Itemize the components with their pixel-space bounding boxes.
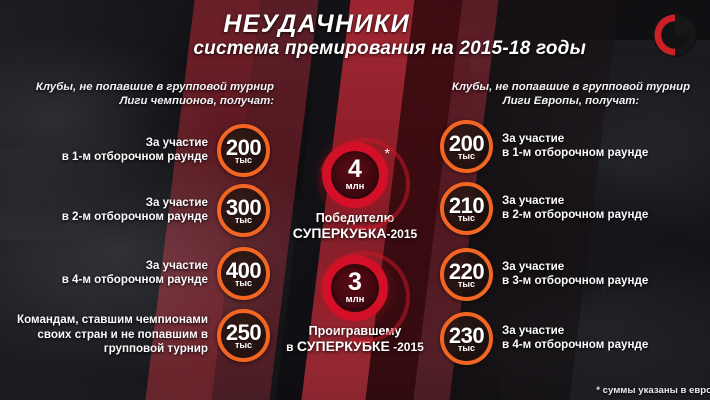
- list-item: Командам, ставшим чемпионами своих стран…: [0, 307, 270, 363]
- prize-unit: тыс: [235, 341, 252, 350]
- prize-label: За участие в 1-м отборочном раунде: [62, 136, 217, 165]
- prize-amount-badge: 220 тыс: [440, 248, 493, 301]
- prize-unit: тыс: [458, 214, 475, 223]
- list-item: 220 тыс За участие в 3-м отборочном раун…: [440, 246, 710, 302]
- page-title: НЕУДАЧНИКИ: [0, 10, 620, 39]
- prize-amount-badge: 210 тыс: [440, 182, 493, 235]
- prize-label: За участие в 4-м отборочном раунде: [493, 324, 648, 353]
- supercup-amount: 4: [348, 158, 362, 180]
- prize-label: За участие в 2-м отборочном раунде: [62, 196, 217, 225]
- prize-unit: тыс: [235, 156, 252, 165]
- prize-amount-badge: 250 тыс: [217, 309, 270, 362]
- supercup-prize-ring: 4 * млн: [322, 142, 388, 208]
- supercup-caption-year: -2015: [390, 340, 424, 354]
- prize-label: За участие в 4-м отборочном раунде: [62, 259, 217, 288]
- list-item: 210 тыс За участие в 2-м отборочном раун…: [440, 180, 710, 236]
- prize-amount-badge: 200 тыс: [440, 120, 493, 173]
- prize-label: За участие в 2-м отборочном раунде: [493, 194, 648, 223]
- supercup-runnerup-block: 3 млн Проигравшему в СУПЕРКУБКЕ -2015: [280, 255, 430, 355]
- prize-label: За участие в 3-м отборочном раунде: [493, 260, 648, 289]
- poster-header: НЕУДАЧНИКИ система премирования на 2015-…: [0, 4, 710, 66]
- footnote-asterisk: *: [385, 146, 390, 160]
- prize-label: За участие в 1-м отборочном раунде: [493, 132, 648, 161]
- supercup-caption-prefix: в: [286, 340, 297, 354]
- champions-emblem-logo: [651, 11, 699, 59]
- supercup-amount: 3: [348, 271, 362, 293]
- list-item: 230 тыс За участие в 4-м отборочном раун…: [440, 310, 710, 366]
- list-item: 200 тыс За участие в 1-м отборочном раун…: [440, 118, 710, 174]
- page-subtitle: система премирования на 2015-18 годы: [0, 38, 648, 60]
- prize-amount-badge: 200 тыс: [217, 124, 270, 177]
- infographic-poster: НЕУДАЧНИКИ система премирования на 2015-…: [0, 0, 710, 400]
- prize-unit: тыс: [458, 280, 475, 289]
- left-column-heading: Клубы, не попавшие в групповой турнир Ли…: [4, 80, 274, 108]
- prize-unit: тыс: [458, 152, 475, 161]
- prize-unit: тыс: [458, 344, 475, 353]
- prize-unit: тыс: [235, 216, 252, 225]
- list-item: За участие в 4-м отборочном раунде 400 т…: [0, 245, 270, 301]
- list-item: За участие в 1-м отборочном раунде 200 т…: [0, 122, 270, 178]
- prize-amount-badge: 230 тыс: [440, 312, 493, 365]
- list-item: За участие в 2-м отборочном раунде 300 т…: [0, 182, 270, 238]
- footnote: * суммы указаны в евро: [596, 385, 710, 396]
- supercup-winner-block: 4 * млн Победителю СУПЕРКУБКА-2015: [280, 142, 430, 242]
- prize-unit: тыс: [235, 279, 252, 288]
- supercup-caption-year: -2015: [387, 227, 418, 241]
- prize-amount-badge: 300 тыс: [217, 184, 270, 237]
- right-column-heading: Клубы, не попавшие в групповой турнир Ли…: [436, 80, 706, 108]
- prize-amount-badge: 400 тыс: [217, 247, 270, 300]
- prize-label: Командам, ставшим чемпионами своих стран…: [17, 313, 217, 357]
- supercup-prize-ring: 3 млн: [322, 255, 388, 321]
